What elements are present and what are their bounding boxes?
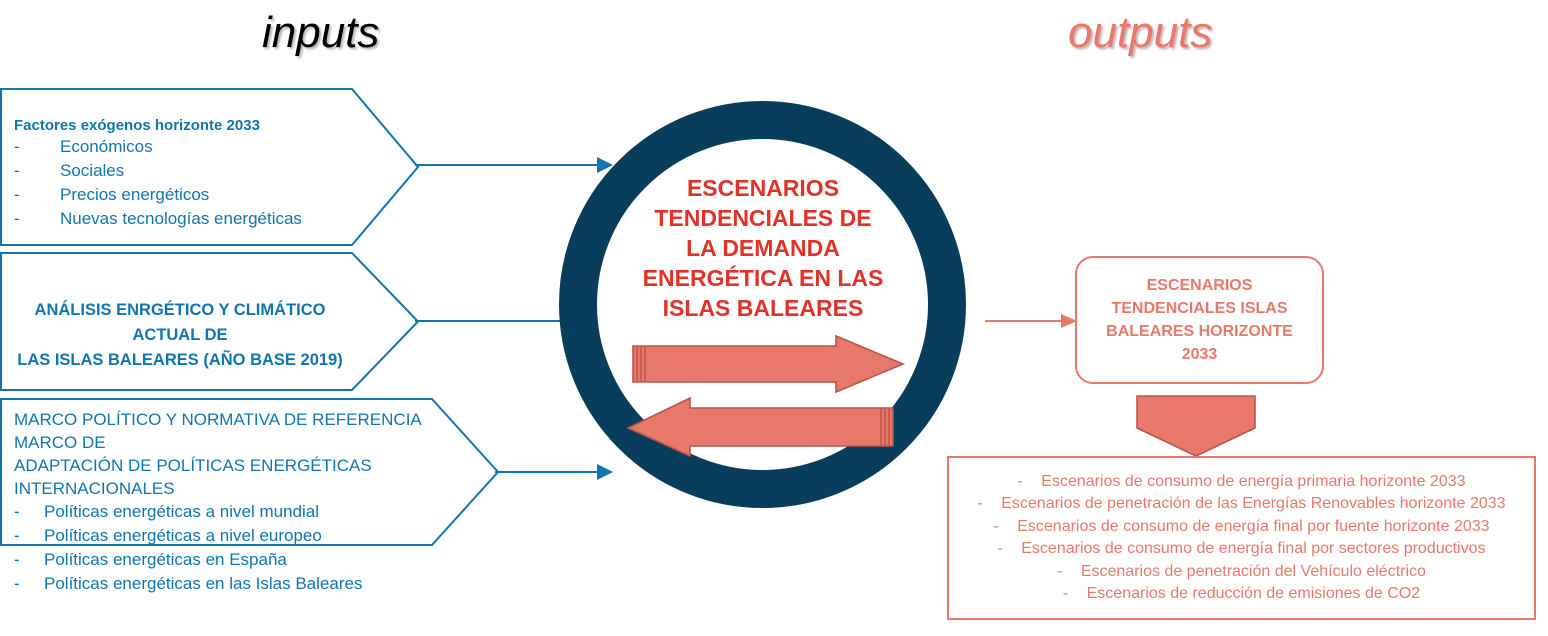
- list-item: - Políticas energéticas a nivel europeo: [14, 524, 484, 548]
- arrow-down-icon: [1136, 395, 1256, 457]
- input-box-1-heading: Factores exógenos horizonte 2033: [14, 116, 344, 135]
- input-box-1-list: - Económicos - Sociales - Precios energé…: [14, 135, 344, 231]
- central-process-label: ESCENARIOS TENDENCIALES DE LA DEMANDA EN…: [620, 173, 906, 323]
- central-line-5: ISLAS BALEARES: [620, 293, 906, 323]
- central-line-3: LA DEMANDA: [620, 233, 906, 263]
- central-line-2: TENDENCIALES DE: [620, 203, 906, 233]
- input-box-3-list: - Políticas energéticas a nivel mundial …: [14, 500, 484, 596]
- list-item: - Nuevas tecnologías energéticas: [14, 207, 344, 231]
- list-item: - Escenarios de penetración del Vehículo…: [949, 561, 1534, 584]
- bullet-dash: -: [1017, 471, 1022, 494]
- list-item-label: Nuevas tecnologías energéticas: [60, 207, 302, 231]
- list-item: - Precios energéticos: [14, 183, 344, 207]
- bullet-dash: -: [993, 516, 998, 539]
- arrow-left-icon: [628, 398, 893, 456]
- bullet-dash: -: [14, 207, 60, 231]
- connector-input-1-to-circle: [415, 140, 615, 180]
- input-box-3-heading-line-1: MARCO POLÍTICO Y NORMATIVA DE REFERENCIA…: [14, 408, 484, 454]
- output-summary-box[interactable]: ESCENARIOS TENDENCIALES ISLAS BALEARES H…: [1075, 256, 1324, 384]
- list-item-label: Sociales: [60, 159, 124, 183]
- bullet-dash: -: [14, 183, 60, 207]
- bullet-dash: -: [997, 538, 1002, 561]
- list-item: - Políticas energéticas en las Islas Bal…: [14, 572, 484, 596]
- list-item: - Escenarios de penetración de las Energ…: [949, 493, 1534, 516]
- bullet-dash: -: [14, 159, 60, 183]
- input-box-3-heading-line-2: ADAPTACIÓN DE POLÍTICAS ENERGÉTICAS INTE…: [14, 454, 484, 500]
- list-item: - Políticas energéticas en España: [14, 548, 484, 572]
- list-item: - Escenarios de consumo de energía prima…: [949, 471, 1534, 494]
- arrow-right-icon: [633, 336, 903, 392]
- input-box-policy-framework[interactable]: MARCO POLÍTICO Y NORMATIVA DE REFERENCIA…: [0, 398, 500, 546]
- list-item-label: Escenarios de reducción de emisiones de …: [1087, 585, 1421, 602]
- inputs-section-title: inputs: [262, 8, 379, 58]
- list-item-label: Políticas energéticas a nivel mundial: [44, 500, 319, 524]
- list-item: - Económicos: [14, 135, 344, 159]
- list-item-label: Precios energéticos: [60, 183, 209, 207]
- diagram-canvas: inputs outputs Factores exógenos horizon…: [0, 0, 1548, 636]
- bullet-dash: -: [14, 572, 44, 596]
- bullet-dash: -: [14, 500, 44, 524]
- connector-input-3-to-circle: [495, 450, 625, 490]
- bullet-dash: -: [977, 493, 982, 516]
- list-item-label: Escenarios de penetración del Vehículo e…: [1081, 563, 1426, 580]
- bullet-dash: -: [14, 548, 44, 572]
- output-detail-box[interactable]: - Escenarios de consumo de energía prima…: [947, 456, 1536, 620]
- list-item-label: Políticas energéticas en España: [44, 548, 287, 572]
- output-detail-list: - Escenarios de consumo de energía prima…: [949, 471, 1534, 606]
- list-item-label: Escenarios de consumo de energía final p…: [1021, 540, 1485, 557]
- list-item: - Escenarios de reducción de emisiones d…: [949, 583, 1534, 606]
- bullet-dash: -: [1063, 583, 1068, 606]
- bullet-dash: -: [1057, 561, 1062, 584]
- list-item: - Escenarios de consumo de energía final…: [949, 538, 1534, 561]
- list-item-label: Escenarios de consumo de energía final p…: [1017, 518, 1489, 535]
- list-item: - Políticas energéticas a nivel mundial: [14, 500, 484, 524]
- outputs-section-title: outputs: [1068, 8, 1212, 58]
- list-item: - Escenarios de consumo de energía final…: [949, 516, 1534, 539]
- bullet-dash: -: [14, 524, 44, 548]
- central-line-4: ENERGÉTICA EN LAS: [620, 263, 906, 293]
- output-summary-label: ESCENARIOS TENDENCIALES ISLAS BALEARES H…: [1100, 274, 1300, 366]
- input-box-2-line-2: LAS ISLAS BALEARES (AÑO BASE 2019): [0, 348, 360, 373]
- input-box-current-analysis[interactable]: ANÁLISIS ENRGÉTICO Y CLIMÁTICO ACTUAL DE…: [0, 252, 420, 391]
- list-item-label: Escenarios de consumo de energía primari…: [1041, 473, 1465, 490]
- list-item-label: Económicos: [60, 135, 153, 159]
- list-item: - Sociales: [14, 159, 344, 183]
- cycle-arrows-group: [628, 336, 908, 460]
- list-item-label: Escenarios de penetración de las Energía…: [1001, 495, 1505, 512]
- list-item-label: Políticas energéticas en las Islas Balea…: [44, 572, 362, 596]
- central-line-1: ESCENARIOS: [620, 173, 906, 203]
- input-box-2-line-1: ANÁLISIS ENRGÉTICO Y CLIMÁTICO ACTUAL DE: [0, 298, 360, 348]
- connector-circle-to-output: [985, 305, 1080, 337]
- input-box-exogenous-factors[interactable]: Factores exógenos horizonte 2033 - Econó…: [0, 88, 420, 246]
- bullet-dash: -: [14, 135, 60, 159]
- list-item-label: Políticas energéticas a nivel europeo: [44, 524, 322, 548]
